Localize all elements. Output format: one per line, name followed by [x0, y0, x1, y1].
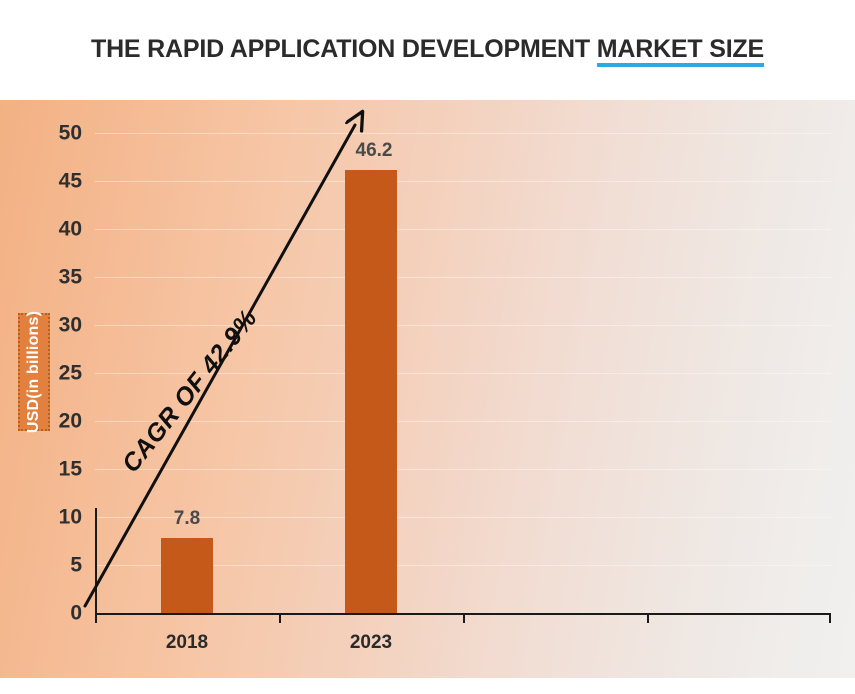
gridline: [95, 229, 831, 230]
gridline: [95, 133, 831, 134]
x-tick-label-2018: 2018: [166, 632, 208, 654]
gridline: [95, 325, 831, 326]
bar-2018[interactable]: [161, 538, 213, 613]
x-tick-mark: [829, 613, 831, 623]
y-tick-label: 40: [22, 219, 82, 240]
title-accent-text: MARKET SIZE: [597, 35, 764, 66]
x-tick-mark: [279, 613, 281, 623]
y-axis-title-badge: USD(in billions): [18, 313, 50, 431]
growth-arrow-icon: [0, 100, 855, 678]
x-tick-mark: [463, 613, 465, 623]
x-tick-mark: [95, 613, 97, 623]
y-tick-label: 10: [22, 507, 82, 528]
title-plain-text: THE RAPID APPLICATION DEVELOPMENT: [91, 35, 597, 63]
y-tick-label: 5: [22, 555, 82, 576]
gridline: [95, 469, 831, 470]
y-axis-line: [95, 508, 97, 614]
y-tick-label: 15: [22, 459, 82, 480]
bar-value-2018: 7.8: [174, 508, 200, 530]
x-tick-label-2023: 2023: [350, 632, 392, 654]
y-tick-label: 35: [22, 267, 82, 288]
y-tick-label: 50: [22, 123, 82, 144]
page-title: THE RAPID APPLICATION DEVELOPMENT MARKET…: [91, 35, 764, 66]
cagr-annotation-label: CAGR OF 42.9%: [117, 304, 264, 478]
gridline: [95, 277, 831, 278]
gridline: [95, 517, 831, 518]
panel-bottom-spacer: [0, 678, 855, 694]
bar-2023[interactable]: [345, 170, 397, 613]
gridline: [95, 421, 831, 422]
gridline: [95, 181, 831, 182]
bar-value-2023: 46.2: [356, 140, 393, 162]
title-band: THE RAPID APPLICATION DEVELOPMENT MARKET…: [0, 0, 855, 100]
y-axis-title-label: USD(in billions): [25, 311, 43, 433]
x-tick-mark: [647, 613, 649, 623]
y-tick-label: 0: [22, 603, 82, 624]
chart-panel: 50 45 40 35 30 25 20 15 10 5 0 USD(in bi…: [0, 100, 855, 678]
y-tick-label: 45: [22, 171, 82, 192]
